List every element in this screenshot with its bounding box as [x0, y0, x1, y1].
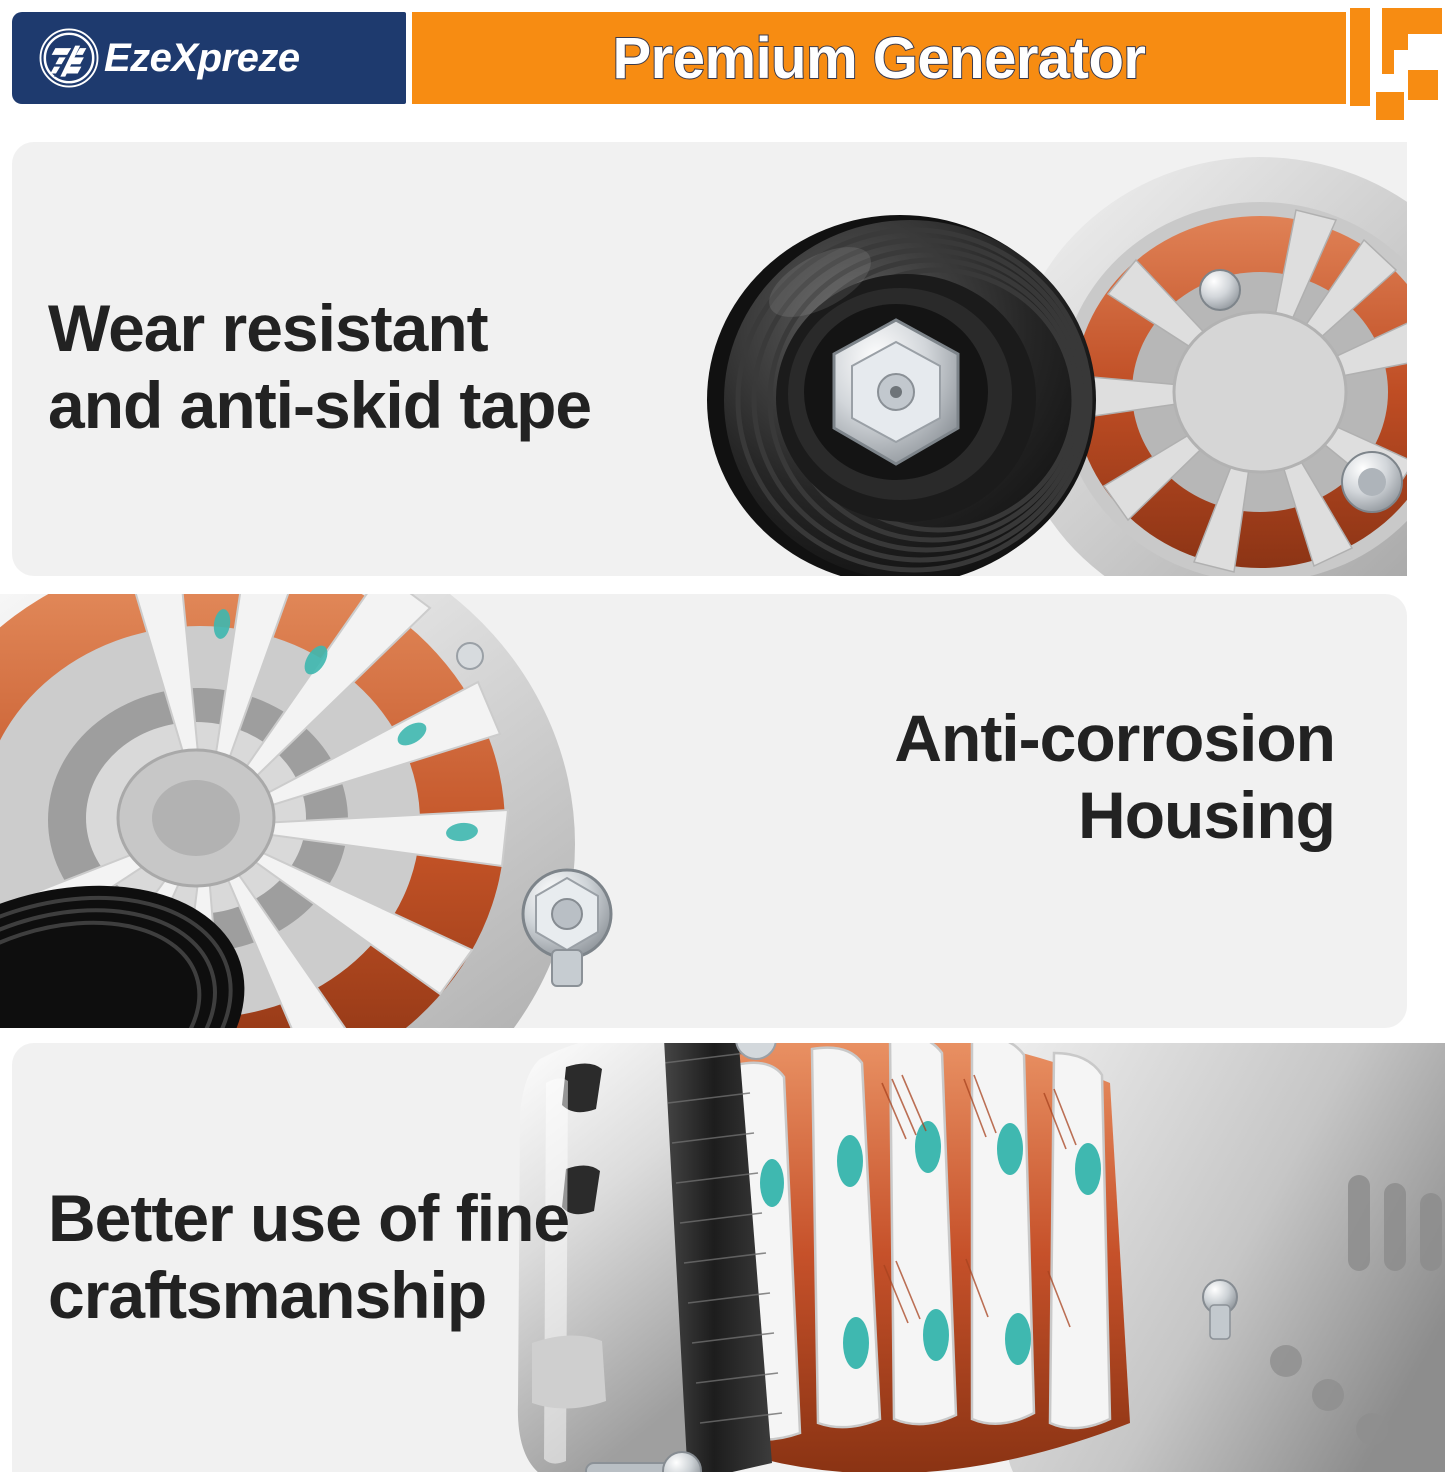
- alternator-housing-stator-photo: [0, 594, 660, 1028]
- orange-blocks-decoration-icon: [1350, 8, 1445, 120]
- page-title: Premium Generator: [612, 25, 1145, 92]
- banner-title-block: Premium Generator: [412, 12, 1346, 104]
- feature-text-line: Better use of fine: [48, 1180, 569, 1257]
- brand-block: EzeXpreze: [12, 12, 406, 104]
- alternator-pulley-closeup-photo: [700, 142, 1407, 576]
- feature-text-craftsmanship: Better use of fine craftsmanship: [48, 1180, 569, 1333]
- brand-name: EzeXpreze: [104, 36, 300, 81]
- eze-circle-emblem-icon: [38, 27, 100, 89]
- feature-text-line: and anti-skid tape: [48, 367, 591, 444]
- feature-text-line: Wear resistant: [48, 290, 591, 367]
- feature-text-wear-resistant: Wear resistant and anti-skid tape: [48, 290, 591, 443]
- feature-text-line: Anti-corrosion: [894, 700, 1335, 777]
- feature-text-anti-corrosion: Anti-corrosion Housing: [894, 700, 1335, 853]
- header-banner: EzeXpreze Premium Generator: [0, 0, 1445, 118]
- alternator-full-body-photo: [420, 1043, 1445, 1472]
- feature-text-line: Housing: [894, 777, 1335, 854]
- feature-text-line: craftsmanship: [48, 1257, 569, 1334]
